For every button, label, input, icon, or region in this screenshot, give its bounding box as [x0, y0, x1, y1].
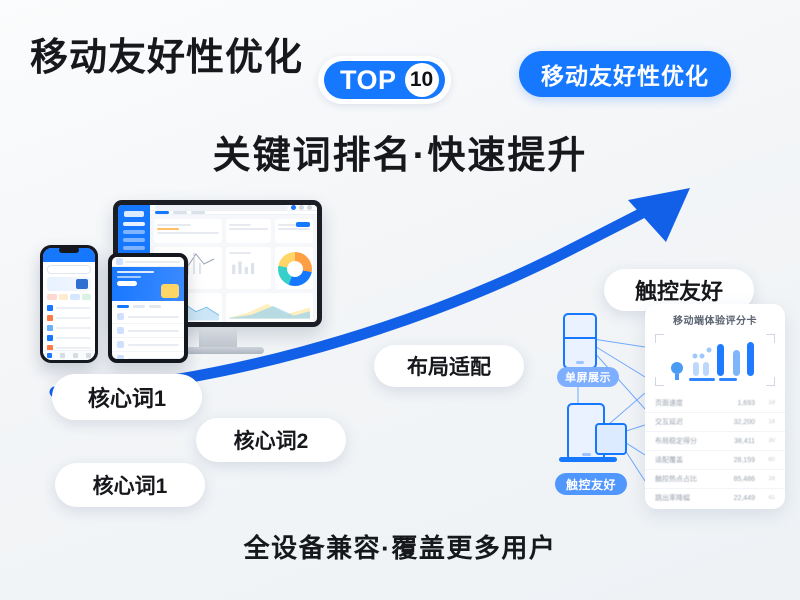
table-row: 触控热点占比 85,486 18: [645, 470, 785, 489]
phone-quick-actions: [43, 291, 95, 303]
row-metric: 布局稳定得分: [655, 436, 728, 446]
list-item: [112, 352, 184, 359]
list-item: [112, 324, 184, 338]
tablet-topbar-text: [125, 261, 180, 263]
table-row: 页面速度 1,693 19: [645, 394, 785, 413]
tablet-tab: [133, 305, 145, 308]
tablet-tabs: [112, 301, 184, 310]
score-card-rows: 页面速度 1,693 19 交互延迟 32,200 18 布局稳定得分 38,4…: [645, 394, 785, 507]
topbar-dot-icon: [299, 205, 304, 210]
row-delta: 41: [761, 495, 775, 501]
tablet-mockup: [108, 253, 188, 363]
phone-bezel: [40, 245, 98, 363]
score-card: 移动端体验评分卡: [645, 304, 785, 509]
phone-banner-image: [76, 279, 88, 289]
tablet-bezel: [108, 253, 188, 363]
table-row: 布局稳定得分 38,411 30: [645, 432, 785, 451]
tablet-tab: [117, 305, 129, 308]
touch-diagram: 单屏展示 触控友好 移动端体验评分卡: [545, 305, 790, 510]
phone-notch: [59, 247, 79, 253]
row-metric: 触控热点占比: [655, 474, 728, 484]
list-item: [112, 310, 184, 324]
dashboard-donut-card: [275, 247, 313, 289]
table-row: 适配覆盖 28,159 60: [645, 451, 785, 470]
row-metric: 跳出率降幅: [655, 493, 728, 503]
row-delta: 19: [761, 400, 775, 406]
dashboard-card-button: [296, 222, 310, 227]
tabbar-item: [60, 353, 65, 358]
top-badge-number: 10: [405, 63, 439, 97]
topbar-dot-icon: [307, 205, 312, 210]
score-card-title: 移动端体验评分卡: [645, 312, 785, 327]
top-badge-word: TOP: [340, 65, 397, 96]
quick-action: [59, 294, 69, 300]
tablet-tab: [149, 305, 161, 308]
area-chart-icon: [229, 296, 310, 322]
list-item: [112, 338, 184, 352]
phone-tabbar: [43, 350, 95, 360]
poster-canvas: 移动友好性优化 TOP 10 移动友好性优化 关键词排名·快速提升: [0, 0, 800, 600]
device-mockup-group: [30, 185, 330, 385]
row-value: 1,693: [737, 400, 755, 407]
dashboard-chart-card: [226, 247, 271, 289]
bar-chart-icon: [229, 256, 268, 278]
mini-tablet-icon: [595, 423, 627, 455]
tablet-banner: [112, 267, 184, 301]
row-metric: 页面速度: [655, 398, 731, 408]
row-metric: 适配覆盖: [655, 455, 728, 465]
row-delta: 18: [761, 419, 775, 425]
table-row: 交互延迟 32,200 18: [645, 413, 785, 432]
sidebar-nav-item: [123, 222, 145, 226]
sidebar-nav-item: [123, 238, 145, 242]
phone-mockup: [40, 245, 98, 363]
row-delta: 18: [761, 476, 775, 482]
dashboard-search-bar: [155, 205, 288, 210]
top-rank-badge: TOP 10: [318, 56, 451, 104]
top-badge-inner: TOP 10: [324, 61, 445, 99]
dashboard-card: [226, 219, 271, 243]
row-value: 28,159: [734, 457, 755, 464]
device-base-bar: [559, 457, 617, 462]
mini-phone-top-icon: [563, 313, 597, 369]
keyword-pill-1: 核心词1: [52, 374, 202, 420]
list-item: [43, 323, 95, 333]
list-item: [43, 333, 95, 343]
tabbar-item: [73, 353, 78, 358]
row-delta: 30: [761, 438, 775, 444]
donut-chart-icon: [278, 252, 312, 286]
dashboard-card: [275, 219, 313, 243]
row-delta: 60: [761, 457, 775, 463]
tabbar-item: [86, 353, 91, 358]
row-value: 22,449: [734, 495, 755, 502]
phone-banner: [47, 277, 91, 291]
dashboard-tab: [191, 211, 205, 214]
tablet-topbar: [112, 257, 184, 267]
dashboard-tab: [173, 211, 187, 214]
dashboard-tab: [155, 211, 169, 214]
tablet-topbar-icon: [116, 258, 123, 265]
row-value: 85,486: [734, 476, 755, 483]
row-value: 32,200: [734, 419, 755, 426]
quick-action: [47, 294, 57, 300]
diagram-chip-touch-friendly: 触控友好: [555, 473, 627, 495]
topbar-dot-icon: [291, 205, 296, 210]
keyword-pill-3: 核心词1: [55, 463, 205, 507]
sidebar-nav-item: [123, 246, 145, 250]
sidebar-nav-item: [123, 230, 145, 234]
keyword-pill-2: 核心词2: [196, 418, 346, 462]
quick-action: [82, 294, 92, 300]
table-row: 跳出率降幅 22,449 41: [645, 489, 785, 507]
phone-screen: [43, 248, 95, 360]
tablet-banner-button: [117, 281, 137, 286]
score-card-chart: [655, 334, 775, 386]
footer-caption: 全设备兼容·覆盖更多用户: [0, 528, 800, 565]
scan-bar-chart-icon: [655, 334, 775, 386]
monitor-stand: [199, 327, 237, 349]
dashboard-area-card: [226, 293, 313, 322]
layout-adaptation-pill: 布局适配: [374, 345, 524, 387]
page-title: 移动友好性优化: [30, 26, 303, 81]
dashboard-logo: [124, 211, 144, 217]
tablet-banner-image: [161, 284, 179, 298]
list-item: [43, 303, 95, 313]
tablet-screen: [112, 257, 184, 359]
row-metric: 交互延迟: [655, 417, 728, 427]
phone-search-bar: [47, 265, 91, 274]
highlight-tag: 移动友好性优化: [519, 51, 731, 97]
quick-action: [70, 294, 80, 300]
dashboard-card: [154, 219, 222, 243]
tabbar-item: [47, 353, 52, 358]
diagram-chip-single-screen: 单屏展示: [557, 367, 619, 387]
list-item: [43, 313, 95, 323]
row-value: 38,411: [734, 438, 755, 445]
